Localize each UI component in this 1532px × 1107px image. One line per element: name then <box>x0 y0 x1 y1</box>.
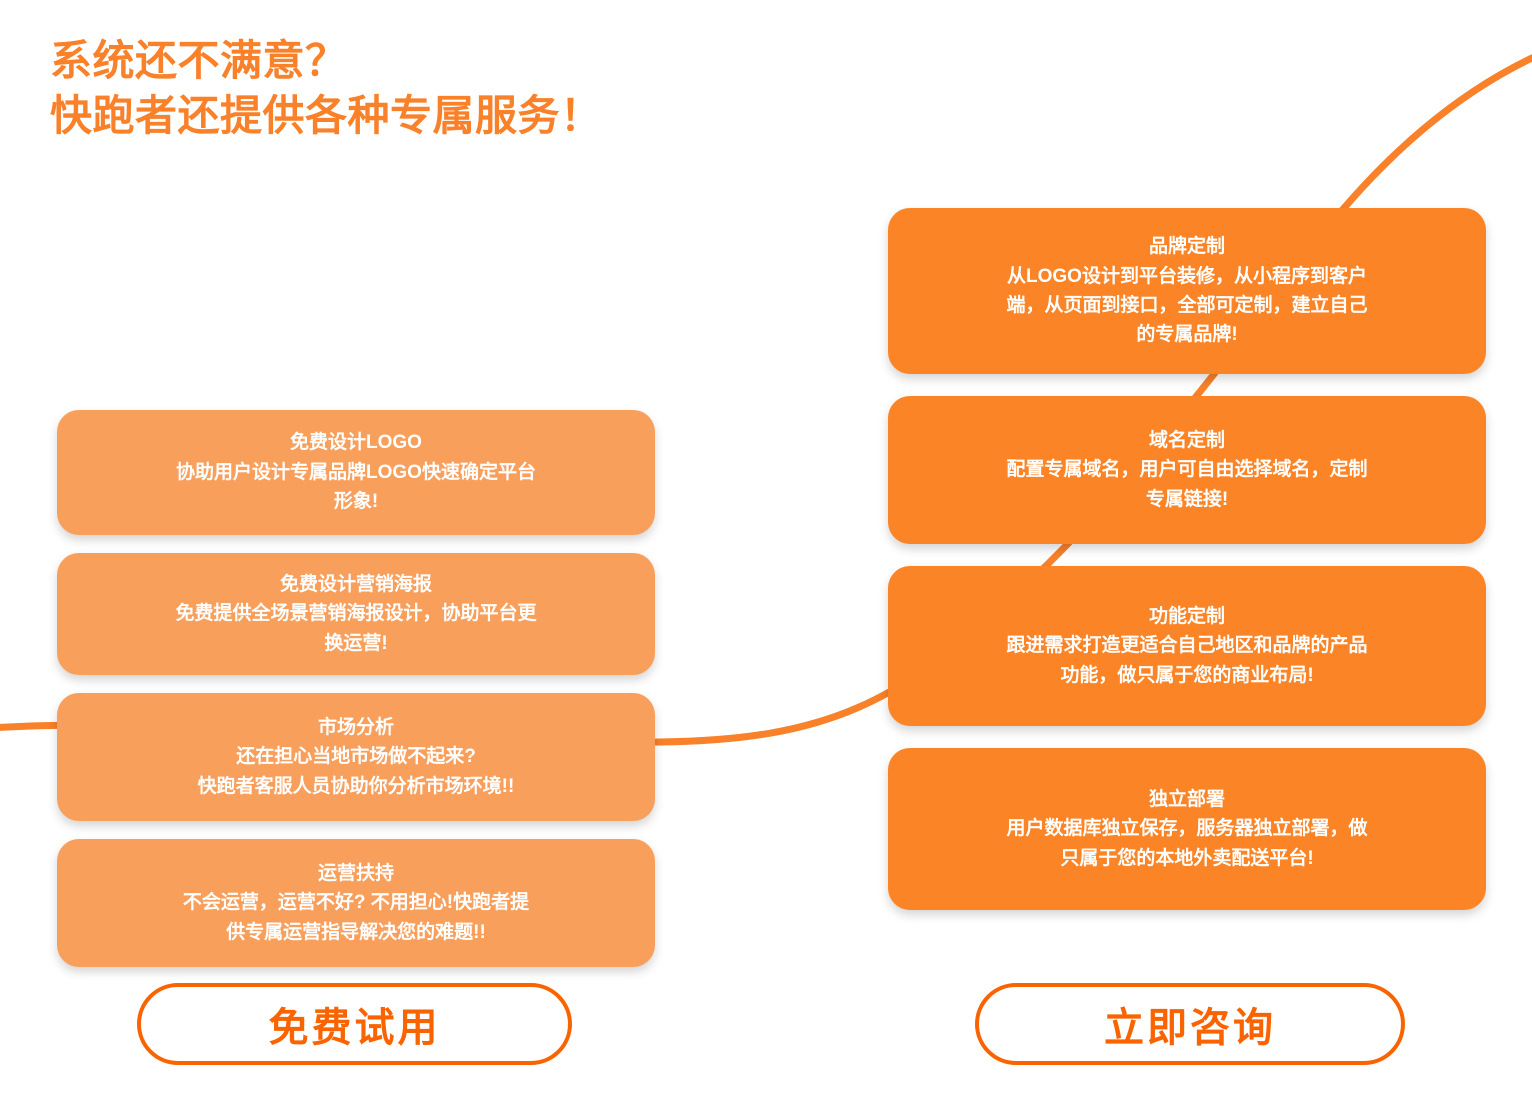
card-title: 独立部署 <box>1149 785 1225 814</box>
card-title: 免费设计LOGO <box>290 428 422 457</box>
service-card-brand-customization[interactable]: 品牌定制 从LOGO设计到平台装修，从小程序到客户 端，从页面到接口，全部可定制… <box>888 208 1486 374</box>
service-card-independent-deployment[interactable]: 独立部署 用户数据库独立保存，服务器独立部署，做 只属于您的本地外卖配送平台! <box>888 748 1486 910</box>
free-trial-button[interactable]: 免费试用 <box>137 983 572 1065</box>
card-description: 还在担心当地市场做不起来? 快跑者客服人员协助你分析市场环境!! <box>198 742 515 801</box>
card-description: 协助用户设计专属品牌LOGO快速确定平台 形象! <box>176 458 536 517</box>
service-card-market-analysis[interactable]: 市场分析 还在担心当地市场做不起来? 快跑者客服人员协助你分析市场环境!! <box>57 693 655 821</box>
service-card-free-poster[interactable]: 免费设计营销海报 免费提供全场景营销海报设计，协助平台更 换运营! <box>57 553 655 675</box>
card-description: 从LOGO设计到平台装修，从小程序到客户 端，从页面到接口，全部可定制，建立自己… <box>1006 262 1367 350</box>
card-description: 不会运营，运营不好? 不用担心!快跑者提 供专属运营指导解决您的难题!! <box>183 888 529 947</box>
card-title: 市场分析 <box>318 713 394 742</box>
card-title: 运营扶持 <box>318 859 394 888</box>
card-title: 域名定制 <box>1149 426 1225 455</box>
card-description: 跟进需求打造更适合自己地区和品牌的产品 功能，做只属于您的商业布局! <box>1006 631 1367 690</box>
card-title: 免费设计营销海报 <box>280 570 432 599</box>
service-card-free-logo[interactable]: 免费设计LOGO 协助用户设计专属品牌LOGO快速确定平台 形象! <box>57 410 655 535</box>
headline-line-2: 快跑者还提供各种专属服务！ <box>50 89 603 144</box>
service-card-domain-customization[interactable]: 域名定制 配置专属域名，用户可自由选择域名，定制 专属链接! <box>888 396 1486 544</box>
page-headline: 系统还不满意？ 快跑者还提供各种专属服务！ <box>50 34 603 143</box>
service-card-feature-customization[interactable]: 功能定制 跟进需求打造更适合自己地区和品牌的产品 功能，做只属于您的商业布局! <box>888 566 1486 726</box>
right-service-card-list: 品牌定制 从LOGO设计到平台装修，从小程序到客户 端，从页面到接口，全部可定制… <box>888 208 1486 932</box>
card-description: 免费提供全场景营销海报设计，协助平台更 换运营! <box>175 599 536 658</box>
card-description: 配置专属域名，用户可自由选择域名，定制 专属链接! <box>1006 455 1367 514</box>
service-card-operation-support[interactable]: 运营扶持 不会运营，运营不好? 不用担心!快跑者提 供专属运营指导解决您的难题!… <box>57 839 655 967</box>
card-title: 品牌定制 <box>1149 232 1225 261</box>
left-service-card-list: 免费设计LOGO 协助用户设计专属品牌LOGO快速确定平台 形象! 免费设计营销… <box>57 410 655 985</box>
consult-now-button[interactable]: 立即咨询 <box>975 983 1405 1065</box>
card-description: 用户数据库独立保存，服务器独立部署，做 只属于您的本地外卖配送平台! <box>1006 814 1367 873</box>
headline-line-1: 系统还不满意？ <box>50 34 603 89</box>
card-title: 功能定制 <box>1149 602 1225 631</box>
